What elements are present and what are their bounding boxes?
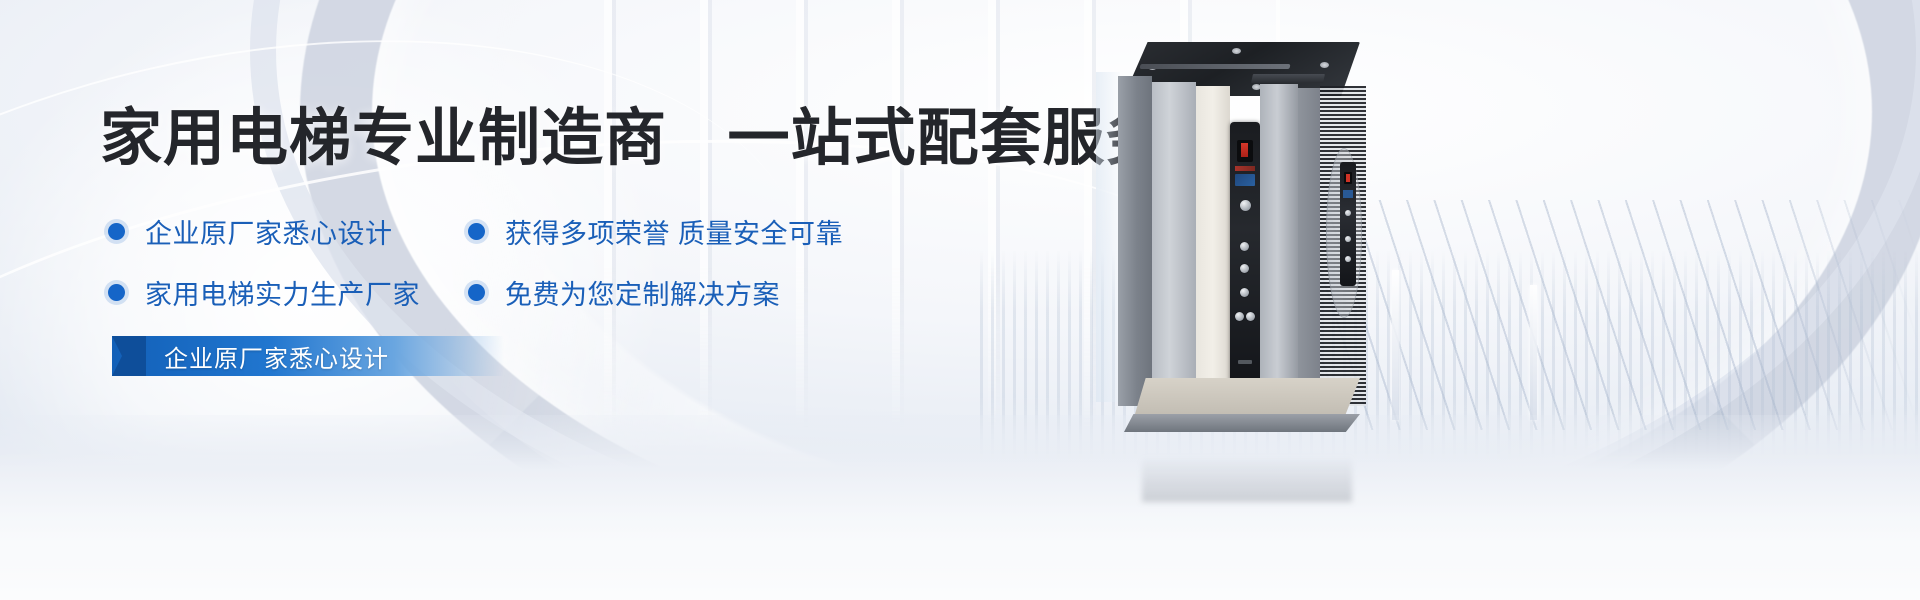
ceiling-screw-icon <box>1320 62 1329 68</box>
feature-item-1: 企业原厂家悉心设计 <box>108 212 468 251</box>
ribbon-label: 企业原厂家悉心设计 <box>164 339 389 374</box>
cabin-base <box>1124 414 1360 432</box>
background-pylon <box>1392 270 1399 420</box>
elevator-floor-reflection <box>1142 456 1352 502</box>
ceiling-screw-icon <box>1232 48 1241 54</box>
bullet-dot-icon <box>468 223 485 240</box>
button-reflection <box>1345 210 1351 216</box>
elevator-control-panel-reflection <box>1340 162 1356 286</box>
cabin-wall-left <box>1118 76 1152 406</box>
floor-button[interactable] <box>1240 264 1249 273</box>
background-pylon <box>1530 285 1537 420</box>
control-panel-lcd-reflection <box>1343 190 1353 198</box>
control-panel-label <box>1238 360 1252 364</box>
ceiling-light-strip <box>1139 64 1290 69</box>
highlight-ribbon[interactable]: 企业原厂家悉心设计 <box>112 336 504 376</box>
cabin-panel-ivory <box>1196 86 1230 404</box>
door-close-button[interactable] <box>1246 312 1255 321</box>
floor-digit <box>1241 143 1248 157</box>
control-panel-brand-mark <box>1235 166 1255 171</box>
feature-list: 企业原厂家悉心设计 获得多项荣誉 质量安全可靠 家用电梯实力生产厂家 免费为您定… <box>108 212 928 334</box>
cabin-pillar <box>1298 88 1320 404</box>
bullet-dot-icon <box>468 284 485 301</box>
page-title: 家用电梯专业制造商 一站式配套服务 <box>100 108 1169 170</box>
floor-button[interactable] <box>1240 288 1249 297</box>
floor-button[interactable] <box>1240 242 1249 251</box>
hero-banner: 家用电梯专业制造商 一站式配套服务 企业原厂家悉心设计 获得多项荣誉 质量安全可… <box>0 0 1920 600</box>
bullet-dot-icon <box>108 284 125 301</box>
feature-row: 家用电梯实力生产厂家 免费为您定制解决方案 <box>108 273 928 312</box>
feature-item-4: 免费为您定制解决方案 <box>468 273 780 312</box>
feature-label: 免费为您定制解决方案 <box>505 273 780 312</box>
elevator-cabin <box>1118 76 1366 414</box>
feature-label: 获得多项荣誉 质量安全可靠 <box>505 212 843 251</box>
elevator-product-image <box>1118 42 1366 414</box>
feature-item-2: 获得多项荣誉 质量安全可靠 <box>468 212 843 251</box>
ribbon-notch-icon <box>112 336 146 376</box>
button-reflection <box>1345 236 1351 242</box>
floor-indicator-display-reflection <box>1344 172 1352 184</box>
floor-indicator-display <box>1237 140 1253 162</box>
door-open-button[interactable] <box>1235 312 1244 321</box>
button-reflection <box>1345 256 1351 262</box>
bullet-dot-icon <box>108 223 125 240</box>
control-panel-lcd <box>1235 174 1255 186</box>
cabin-panel-steel <box>1152 82 1196 404</box>
feature-label: 家用电梯实力生产厂家 <box>145 273 420 312</box>
elevator-side-glass <box>1096 72 1120 402</box>
call-button[interactable] <box>1240 200 1251 211</box>
feature-label: 企业原厂家悉心设计 <box>145 212 393 251</box>
headline-primary: 家用电梯专业制造商 <box>100 104 667 173</box>
cabin-panel-steel-right <box>1260 84 1298 404</box>
feature-row: 企业原厂家悉心设计 获得多项荣誉 质量安全可靠 <box>108 212 928 251</box>
elevator-control-panel[interactable] <box>1230 122 1260 390</box>
feature-item-3: 家用电梯实力生产厂家 <box>108 273 468 312</box>
